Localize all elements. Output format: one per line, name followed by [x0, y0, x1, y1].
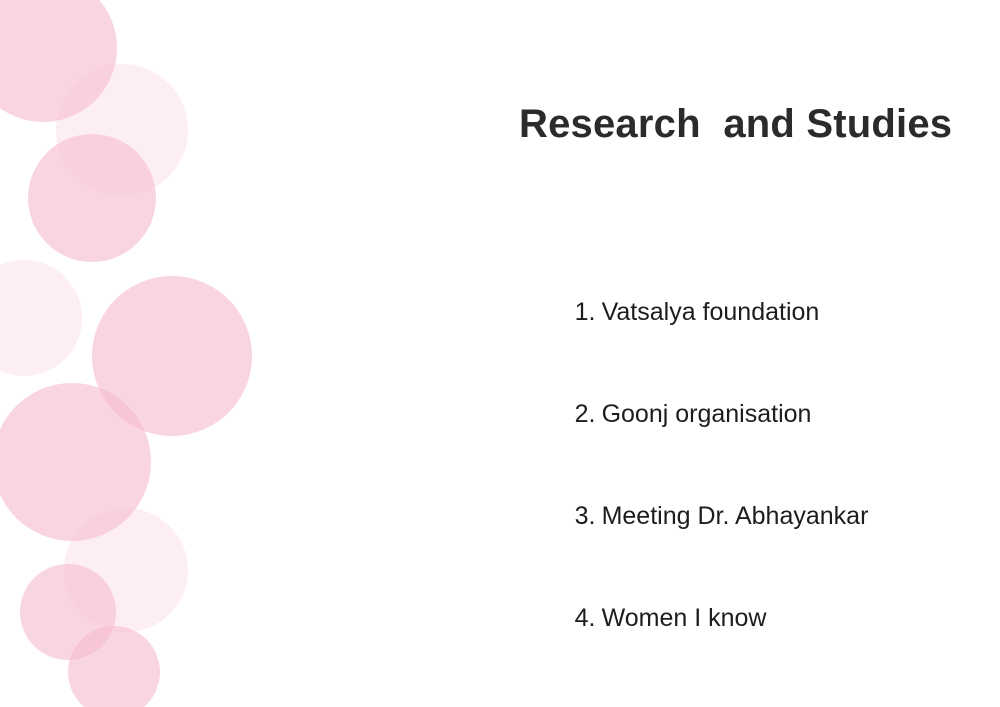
list-item: 4.Women I know	[519, 567, 878, 669]
list-item-number: 4.	[575, 601, 602, 635]
list-item-label: Meeting Dr. Abhayankar	[602, 502, 869, 530]
list-item-label: Vatsalya foundation	[602, 298, 820, 326]
list-item-label: Women I know	[602, 604, 767, 632]
list-item-number: 1.	[575, 295, 602, 329]
list-item: 1.Vatsalya foundation	[519, 261, 878, 363]
list-item-number: 2.	[575, 397, 602, 431]
list-item-number: 5.	[575, 703, 602, 707]
slide-canvas: Research and Studies 1.Vatsalya foundati…	[0, 0, 1000, 707]
page-title: Research and Studies	[519, 101, 952, 147]
list-item: 5.Lakshmymurthy’s project	[519, 669, 878, 707]
list-item-number: 3.	[575, 499, 602, 533]
list-item: 2.Goonj organisation	[519, 363, 878, 465]
list-item: 3.Meeting Dr. Abhayankar	[519, 465, 878, 567]
list-item-label: Goonj organisation	[602, 400, 812, 428]
research-studies-list: 1.Vatsalya foundation 2.Goonj organisati…	[519, 261, 878, 707]
slide-content: Research and Studies 1.Vatsalya foundati…	[0, 0, 1000, 707]
